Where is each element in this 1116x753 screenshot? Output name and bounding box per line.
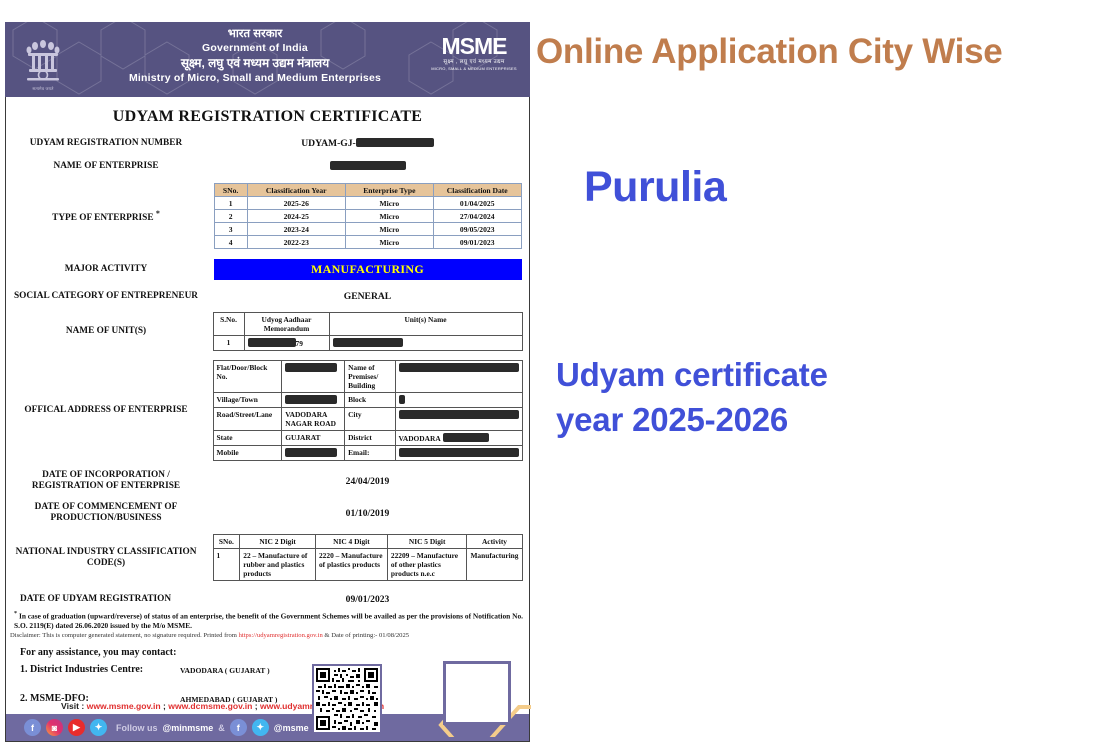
field-label: NAME OF UNIT(S) xyxy=(6,326,206,337)
address-value xyxy=(282,446,345,461)
address-value xyxy=(395,361,522,393)
table-row: Flat/Door/Block No.Name of Premises/ Bui… xyxy=(213,361,522,393)
table-cell: Manufacturing xyxy=(467,549,522,581)
msme-handle[interactable]: @msme xyxy=(274,723,309,733)
major-activity-badge: MANUFACTURING xyxy=(214,259,522,280)
table-row: Village/TownBlock xyxy=(213,393,522,408)
online-application-title: Online Application City Wise xyxy=(536,32,1002,72)
column-header: Unit(s) Name xyxy=(329,313,522,336)
address-key: Village/Town xyxy=(213,393,282,408)
address-value xyxy=(395,408,522,431)
graduation-footnote: * In case of graduation (upward/reverse)… xyxy=(6,608,529,630)
field-label: DATE OF UDYAM REGISTRATION xyxy=(6,594,206,605)
table-header-row: SNo.NIC 2 DigitNIC 4 DigitNIC 5 DigitAct… xyxy=(213,535,522,549)
address-value: VADODARA xyxy=(395,431,522,446)
field-value: UDYAM-GJ- xyxy=(206,138,529,149)
table-cell: 2220 – Manufacture of plastics products xyxy=(315,549,387,581)
column-header: NIC 5 Digit xyxy=(387,535,467,549)
field-official-address: OFFICAL ADDRESS OF ENTERPRISE Flat/Door/… xyxy=(6,359,529,462)
subtitle-line-2: year 2025-2026 xyxy=(556,397,828,442)
column-header: NIC 4 Digit xyxy=(315,535,387,549)
field-date-incorporation: DATE OF INCORPORATION / REGISTRATION OF … xyxy=(6,469,529,493)
table-cell: 01/04/2025 xyxy=(433,197,521,210)
udyam-year-subtitle: Udyam certificate year 2025-2026 xyxy=(556,352,828,442)
field-label: DATE OF COMMENCEMENT OF PRODUCTION/BUSIN… xyxy=(6,502,206,524)
redaction-bar xyxy=(356,138,434,147)
field-label: TYPE OF ENTERPRISE * xyxy=(6,208,206,224)
follow-us-text: Follow us xyxy=(116,723,158,733)
instagram-icon[interactable]: ◙ xyxy=(46,719,63,736)
minmsme-handle[interactable]: @minmsme xyxy=(163,723,214,733)
unit-name xyxy=(329,336,522,351)
contact-label: 1. District Industries Centre: xyxy=(20,664,180,675)
table-cell: Micro xyxy=(345,236,433,249)
national-emblem-icon: सत्यमेव जयते xyxy=(15,26,71,92)
field-label: OFFICAL ADDRESS OF ENTERPRISE xyxy=(6,405,206,416)
msme-logo: MSME सूक्ष्म , लघु एवं मध्यम उद्यम MICRO… xyxy=(426,34,522,72)
address-value: GUJARAT xyxy=(282,431,345,446)
address-key: Block xyxy=(345,393,395,408)
address-table: Flat/Door/Block No.Name of Premises/ Bui… xyxy=(213,360,523,461)
redaction-bar xyxy=(330,161,406,170)
table-cell: Micro xyxy=(345,210,433,223)
table-row: Road/Street/LaneVADODARA NAGAR ROADCity xyxy=(213,408,522,431)
address-value xyxy=(395,446,522,461)
table-cell: 4 xyxy=(214,236,247,249)
field-enterprise-name: NAME OF ENTERPRISE xyxy=(6,157,529,175)
table-row: 42022-23Micro09/01/2023 xyxy=(214,236,521,249)
table-row: MobileEmail: xyxy=(213,446,522,461)
banner-line-hindi-2: सूक्ष्म, लघु एवं मध्यम उद्यम मंत्रालय xyxy=(85,55,425,71)
table-cell: 2025-26 xyxy=(247,197,345,210)
field-label: NAME OF ENTERPRISE xyxy=(6,161,206,172)
table-cell: 3 xyxy=(214,223,247,236)
address-value: VADODARA NAGAR ROAD xyxy=(282,408,345,431)
table-cell: 2024-25 xyxy=(247,210,345,223)
table-cell: 22209 – Manufacture of other plastics pr… xyxy=(387,549,467,581)
table-cell: 2023-24 xyxy=(247,223,345,236)
column-header: Classification Year xyxy=(247,184,345,197)
field-social-category: SOCIAL CATEGORY OF ENTREPRENEUR GENERAL xyxy=(6,287,529,305)
msme-logo-hindi: सूक्ष्म , लघु एवं मध्यम उद्यम xyxy=(426,58,522,66)
unit-uam: 79 xyxy=(244,336,329,351)
column-header: SNo. xyxy=(214,184,247,197)
emblem-caption: सत्यमेव जयते xyxy=(32,86,53,92)
table-cell: 1 xyxy=(214,197,247,210)
table-row: 122 – Manufacture of rubber and plastics… xyxy=(213,549,522,581)
field-value xyxy=(206,161,529,172)
column-header: Activity xyxy=(467,535,522,549)
field-value: 01/10/2019 xyxy=(206,508,529,519)
twitter-icon[interactable]: ✦ xyxy=(252,719,269,736)
field-label: UDYAM REGISTRATION NUMBER xyxy=(6,138,206,149)
field-value: GENERAL xyxy=(206,291,529,302)
table-cell: Micro xyxy=(345,223,433,236)
twitter-icon[interactable]: ✦ xyxy=(90,719,107,736)
table-cell: 09/01/2023 xyxy=(433,236,521,249)
assistance-heading: For any assistance, you may contact: xyxy=(6,640,529,658)
column-header: Classification Date xyxy=(433,184,521,197)
field-label: NATIONAL INDUSTRY CLASSIFICATION CODE(S) xyxy=(6,547,206,569)
table-row: 32023-24Micro09/05/2023 xyxy=(214,223,521,236)
field-label: MAJOR ACTIVITY xyxy=(6,264,206,275)
subtitle-line-1: Udyam certificate xyxy=(556,352,828,397)
udyam-certificate-document: सत्यमेव जयते भारत सरकार Government of In… xyxy=(5,22,530,743)
units-table: S.No.Udyog Aadhaar MemorandumUnit(s) Nam… xyxy=(213,312,523,351)
address-key: District xyxy=(345,431,395,446)
field-name-of-units: NAME OF UNIT(S) S.No.Udyog Aadhaar Memor… xyxy=(6,311,529,352)
field-nic-codes: NATIONAL INDUSTRY CLASSIFICATION CODE(S)… xyxy=(6,533,529,582)
address-key: Road/Street/Lane xyxy=(213,408,282,431)
qr-code[interactable] xyxy=(312,664,382,734)
address-value xyxy=(395,393,522,408)
address-value xyxy=(282,361,345,393)
table-row: 22024-25Micro27/04/2024 xyxy=(214,210,521,223)
disclaimer-text: Disclaimer: This is computer generated s… xyxy=(6,630,529,640)
contact-value: VADODARA ( GUJARAT ) xyxy=(180,664,270,675)
column-header: S.No. xyxy=(213,313,244,336)
field-udyam-number: UDYAM REGISTRATION NUMBER UDYAM-GJ- xyxy=(6,134,529,152)
table-row: StateGUJARATDistrictVADODARA xyxy=(213,431,522,446)
city-name-heading: Purulia xyxy=(584,163,726,212)
field-major-activity: MAJOR ACTIVITY MANUFACTURING xyxy=(6,258,529,281)
unit-sno: 1 xyxy=(213,336,244,351)
address-key: State xyxy=(213,431,282,446)
address-key: Name of Premises/ Building xyxy=(345,361,395,393)
white-placeholder-box xyxy=(443,661,511,725)
table-header-row: SNo.Classification YearEnterprise TypeCl… xyxy=(214,184,521,197)
qr-code-image xyxy=(316,668,378,730)
facebook-icon[interactable]: f xyxy=(24,719,41,736)
dcmsme-url[interactable]: www.dcmsme.gov.in xyxy=(168,701,252,711)
udyam-portal-link[interactable]: https://udyamregistration.gov.in xyxy=(239,632,323,639)
address-value xyxy=(282,393,345,408)
nic-table: SNo.NIC 2 DigitNIC 4 DigitNIC 5 DigitAct… xyxy=(213,534,523,581)
ampersand-text: & xyxy=(218,723,225,733)
column-header: SNo. xyxy=(213,535,240,549)
table-cell: 09/05/2023 xyxy=(433,223,521,236)
table-row: 1 79 xyxy=(213,336,522,351)
banner-line-english-2: Ministry of Micro, Small and Medium Ente… xyxy=(85,71,425,85)
msme-wordmark: MSME xyxy=(426,34,522,58)
msme-url[interactable]: www.msme.gov.in xyxy=(87,701,161,711)
table-cell: 2 xyxy=(214,210,247,223)
field-label: DATE OF INCORPORATION / REGISTRATION OF … xyxy=(6,470,206,492)
banner-line-english-1: Government of India xyxy=(85,41,425,55)
field-date-commencement: DATE OF COMMENCEMENT OF PRODUCTION/BUSIN… xyxy=(6,501,529,525)
table-cell: 27/04/2024 xyxy=(433,210,521,223)
table-cell: 1 xyxy=(213,549,240,581)
facebook-icon[interactable]: f xyxy=(230,719,247,736)
address-key: Email: xyxy=(345,446,395,461)
banner-line-hindi-1: भारत सरकार xyxy=(85,27,425,41)
address-key: City xyxy=(345,408,395,431)
msme-logo-english: MICRO, SMALL & MEDIUM ENTERPRISES xyxy=(426,66,522,72)
column-header: NIC 2 Digit xyxy=(240,535,316,549)
field-type-of-enterprise: TYPE OF ENTERPRISE * SNo.Classification … xyxy=(6,182,529,250)
field-value: 09/01/2023 xyxy=(206,594,529,605)
ministry-banner: सत्यमेव जयते भारत सरकार Government of In… xyxy=(5,22,530,97)
table-cell: Micro xyxy=(345,197,433,210)
table-cell: 22 – Manufacture of rubber and plastics … xyxy=(240,549,316,581)
column-header: Udyog Aadhaar Memorandum xyxy=(244,313,329,336)
table-header-row: S.No.Udyog Aadhaar MemorandumUnit(s) Nam… xyxy=(213,313,522,336)
table-cell: 2022-23 xyxy=(247,236,345,249)
youtube-icon[interactable]: ▶ xyxy=(68,719,85,736)
column-header: Enterprise Type xyxy=(345,184,433,197)
field-label: SOCIAL CATEGORY OF ENTREPRENEUR xyxy=(6,291,206,302)
field-date-udyam-registration: DATE OF UDYAM REGISTRATION 09/01/2023 xyxy=(6,590,529,608)
banner-text-block: भारत सरकार Government of India सूक्ष्म, … xyxy=(85,27,425,85)
enterprise-type-table: SNo.Classification YearEnterprise TypeCl… xyxy=(214,183,522,249)
address-key: Mobile xyxy=(213,446,282,461)
enterprise-type-table-wrap: SNo.Classification YearEnterprise TypeCl… xyxy=(206,183,529,249)
table-row: 12025-26Micro01/04/2025 xyxy=(214,197,521,210)
address-key: Flat/Door/Block No. xyxy=(213,361,282,393)
certificate-body: UDYAM REGISTRATION CERTIFICATE UDYAM REG… xyxy=(5,97,530,742)
field-value: 24/04/2019 xyxy=(206,476,529,487)
page-title: UDYAM REGISTRATION CERTIFICATE xyxy=(6,97,529,134)
